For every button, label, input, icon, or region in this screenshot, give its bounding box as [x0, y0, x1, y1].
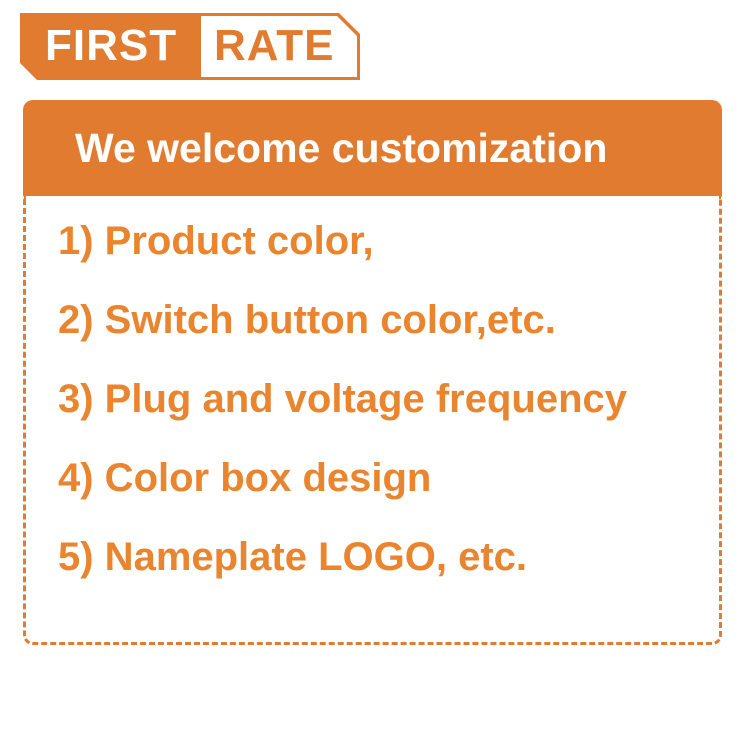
list-item: 2) Switch button color,etc.	[58, 300, 556, 340]
customization-panel: We welcome customization 1) Product colo…	[23, 100, 722, 645]
list-item: 1) Product color,	[58, 221, 374, 261]
panel-body: 1) Product color, 2) Switch button color…	[23, 196, 722, 645]
list-item: 4) Color box design	[58, 458, 431, 498]
logo-first-text: FIRST	[45, 24, 177, 68]
panel-title: We welcome customization	[75, 128, 607, 169]
panel-header: We welcome customization	[23, 100, 722, 196]
brand-logo: FIRST RATE	[20, 13, 360, 80]
logo-first-block: FIRST	[20, 13, 205, 80]
logo-rate-text: RATE	[214, 24, 335, 68]
list-item: 3) Plug and voltage frequency	[58, 379, 627, 419]
logo-rate-block: RATE	[198, 13, 360, 80]
list-item: 5) Nameplate LOGO, etc.	[58, 537, 527, 577]
